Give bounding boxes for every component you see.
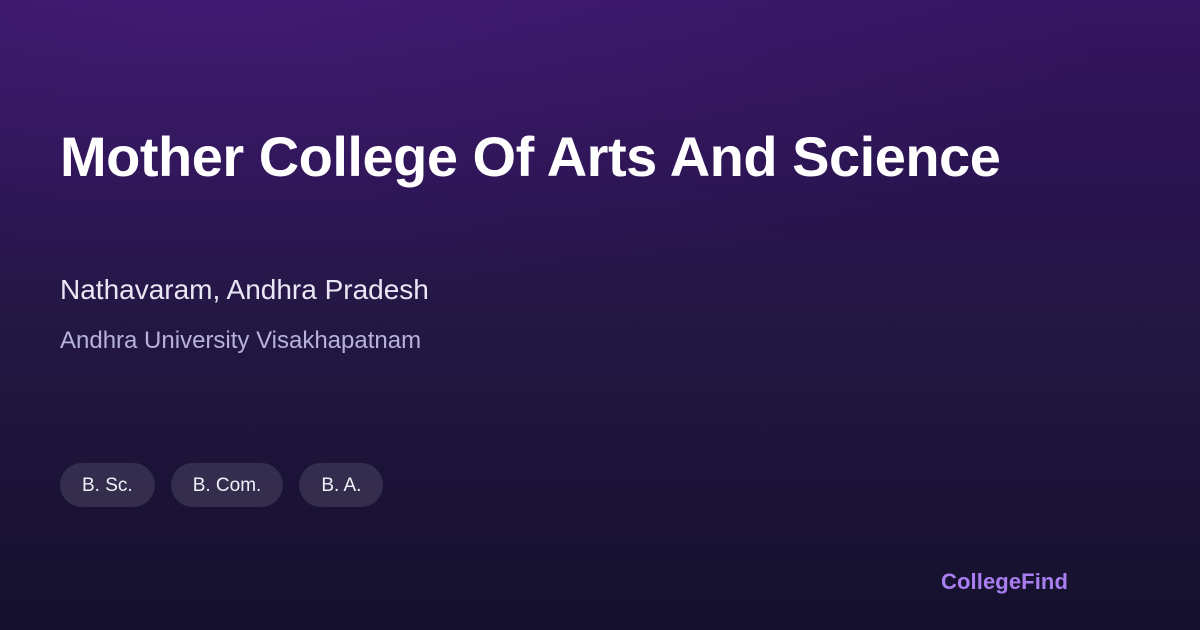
college-affiliation: Andhra University Visakhapatnam bbox=[60, 325, 421, 356]
card-content: Mother College Of Arts And Science Natha… bbox=[0, 0, 1200, 630]
course-tag: B. A. bbox=[299, 463, 383, 507]
brand-logo: CollegeFind bbox=[941, 569, 1068, 595]
page-title: Mother College Of Arts And Science bbox=[60, 126, 1000, 189]
course-tag-list: B. Sc. B. Com. B. A. bbox=[60, 463, 383, 507]
college-share-card: Mother College Of Arts And Science Natha… bbox=[0, 0, 1200, 630]
college-location: Nathavaram, Andhra Pradesh bbox=[60, 272, 429, 308]
course-tag: B. Com. bbox=[171, 463, 284, 507]
course-tag: B. Sc. bbox=[60, 463, 155, 507]
